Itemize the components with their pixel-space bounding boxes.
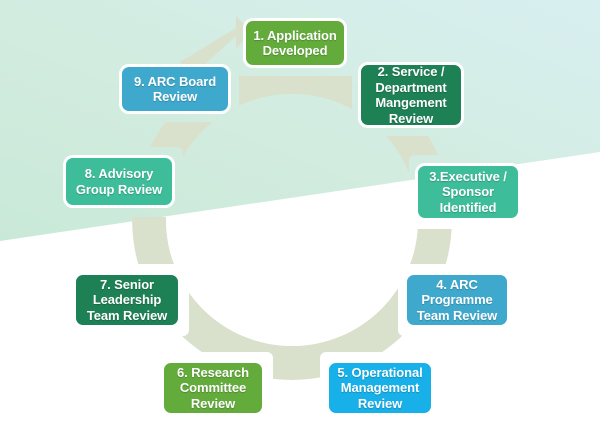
diagram-canvas: 1. Application Developed 2. Service / De… bbox=[0, 0, 600, 442]
step-box-8[interactable]: 8. Advisory Group Review bbox=[63, 155, 175, 208]
step-box-3[interactable]: 3.Executive / Sponsor Identified bbox=[415, 163, 521, 221]
step-box-2[interactable]: 2. Service / Department Mangement Review bbox=[358, 62, 464, 128]
step-box-7[interactable]: 7. Senior Leadership Team Review bbox=[73, 272, 181, 328]
step-box-5[interactable]: 5. Operational Management Review bbox=[326, 360, 434, 416]
step-box-1[interactable]: 1. Application Developed bbox=[243, 18, 347, 68]
step-box-9[interactable]: 9. ARC Board Review bbox=[119, 64, 231, 114]
step-box-4[interactable]: 4. ARC Programme Team Review bbox=[404, 272, 510, 328]
step-box-6[interactable]: 6. Research Committee Review bbox=[161, 360, 265, 416]
